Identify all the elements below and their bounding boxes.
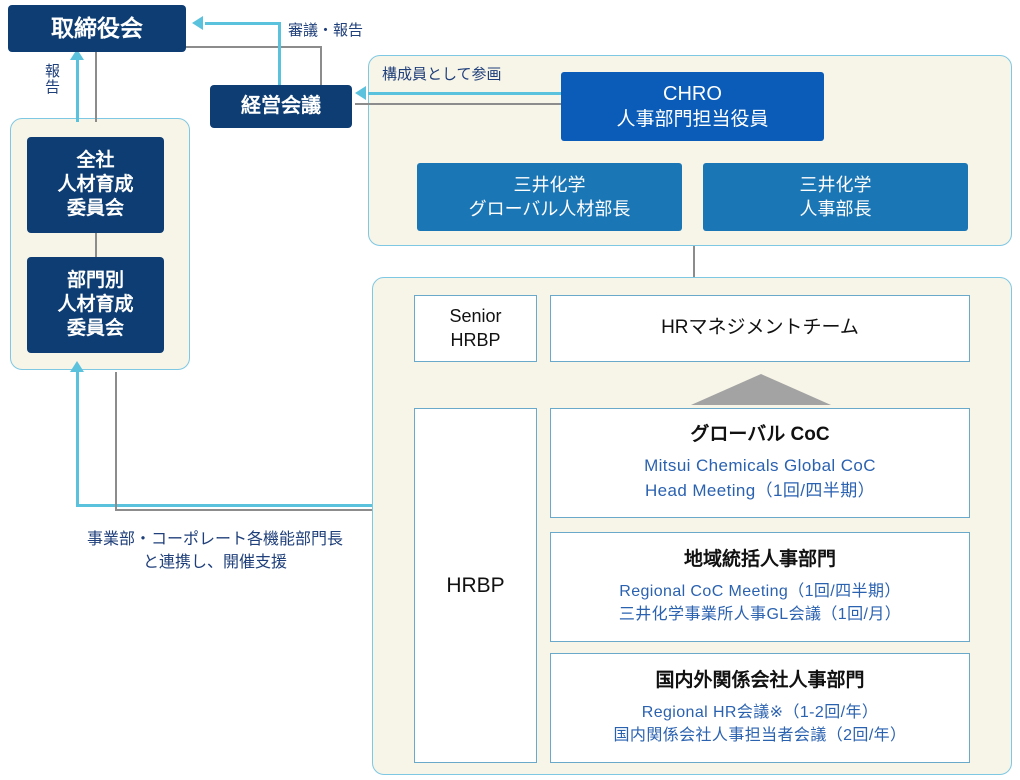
regional-hr-sub-2: 三井化学事業所人事GL会議（1回/月） bbox=[619, 603, 901, 626]
label-support-note: 事業部・コーポレート各機能部門長 と連携し、開催支援 bbox=[55, 528, 375, 574]
connector-support-vertical bbox=[76, 372, 79, 506]
card-regional-hr[interactable]: 地域統括人事部門 Regional CoC Meeting（1回/四半期） 三井… bbox=[550, 532, 970, 642]
box-hr-management-team[interactable]: HRマネジメントチーム bbox=[550, 295, 970, 362]
connector-participation-gray bbox=[355, 103, 566, 105]
affiliates-hr-sub-2: 国内関係会社人事担当者会議（2回/年） bbox=[614, 724, 907, 747]
connector-between-committees bbox=[95, 233, 97, 258]
box-hrbp[interactable]: HRBP bbox=[414, 408, 537, 763]
divisional-committee-line-3: 委員会 bbox=[67, 317, 124, 341]
company-wide-committee-line-1: 全社 bbox=[76, 149, 114, 173]
management-meeting-label: 経営会議 bbox=[241, 94, 321, 120]
connector-participation-cyan bbox=[368, 92, 566, 95]
box-board-of-directors[interactable]: 取締役会 bbox=[8, 5, 186, 52]
hrbp-label: HRBP bbox=[446, 572, 504, 599]
connector-board-to-management-horizontal bbox=[186, 46, 321, 48]
affiliates-hr-sub-1: Regional HR会議※（1-2回/年） bbox=[642, 701, 879, 724]
connector-leadership-to-operations bbox=[693, 246, 695, 277]
box-senior-hrbp[interactable]: Senior HRBP bbox=[414, 295, 537, 362]
box-hr-director[interactable]: 三井化学 人事部長 bbox=[703, 163, 968, 231]
regional-hr-sub-1: Regional CoC Meeting（1回/四半期） bbox=[619, 580, 901, 603]
company-wide-committee-line-2: 人材育成 bbox=[57, 173, 133, 197]
triangle-up-icon bbox=[691, 374, 831, 405]
hr-director-line-1: 三井化学 bbox=[800, 173, 872, 197]
label-participation: 構成員として参画 bbox=[382, 64, 562, 86]
global-coc-sub-1: Mitsui Chemicals Global CoC bbox=[644, 454, 876, 479]
connector-board-to-management-vertical bbox=[320, 46, 322, 90]
global-coc-title: グローバル CoC bbox=[690, 423, 829, 448]
chro-line-2: 人事部門担当役員 bbox=[616, 107, 768, 132]
box-management-meeting[interactable]: 経営会議 bbox=[210, 85, 352, 128]
senior-hrbp-line-1: Senior bbox=[449, 305, 501, 328]
support-note-line-2: と連携し、開催支援 bbox=[55, 551, 375, 574]
label-report: 報告 bbox=[37, 63, 59, 95]
box-global-talent-director[interactable]: 三井化学 グローバル人材部長 bbox=[417, 163, 682, 231]
box-divisional-committee[interactable]: 部門別 人材育成 委員会 bbox=[27, 257, 164, 353]
box-chro[interactable]: CHRO 人事部門担当役員 bbox=[561, 72, 824, 141]
connector-deliberation-horizontal bbox=[205, 22, 280, 25]
connector-support-gray-horizontal bbox=[115, 509, 372, 511]
hr-management-team-label: HRマネジメントチーム bbox=[661, 316, 859, 341]
affiliates-hr-title: 国内外関係会社人事部門 bbox=[655, 669, 864, 694]
org-chart-diagram: 取締役会 報告 審議・報告 経営会議 構成員として参画 全社 人材育成 委員会 … bbox=[0, 0, 1020, 780]
regional-hr-title: 地域統括人事部門 bbox=[684, 548, 836, 573]
chro-line-1: CHRO bbox=[663, 81, 722, 107]
support-note-line-1: 事業部・コーポレート各機能部門長 bbox=[55, 528, 375, 551]
connector-support-horizontal bbox=[76, 504, 372, 507]
company-wide-committee-line-3: 委員会 bbox=[67, 197, 124, 221]
label-deliberation-report: 審議・報告 bbox=[288, 20, 408, 42]
box-company-wide-committee[interactable]: 全社 人材育成 委員会 bbox=[27, 137, 164, 233]
hr-director-line-2: 人事部長 bbox=[800, 197, 872, 221]
global-talent-director-line-2: グローバル人材部長 bbox=[469, 197, 631, 221]
arrow-support-to-committee bbox=[70, 361, 84, 372]
divisional-committee-line-2: 人材育成 bbox=[57, 293, 133, 317]
arrow-participation-to-management bbox=[355, 86, 366, 100]
connector-report-vertical bbox=[76, 58, 79, 122]
card-global-coc[interactable]: グローバル CoC Mitsui Chemicals Global CoC He… bbox=[550, 408, 970, 518]
global-coc-sub-2: Head Meeting（1回/四半期） bbox=[645, 479, 875, 504]
board-label: 取締役会 bbox=[51, 14, 143, 43]
connector-board-to-committee bbox=[95, 52, 97, 122]
global-talent-director-line-1: 三井化学 bbox=[514, 173, 586, 197]
card-affiliates-hr[interactable]: 国内外関係会社人事部門 Regional HR会議※（1-2回/年） 国内関係会… bbox=[550, 653, 970, 763]
connector-support-gray-vertical bbox=[115, 372, 117, 510]
divisional-committee-line-1: 部門別 bbox=[67, 269, 124, 293]
arrow-deliberation-to-board bbox=[192, 16, 203, 30]
senior-hrbp-line-2: HRBP bbox=[450, 329, 500, 352]
